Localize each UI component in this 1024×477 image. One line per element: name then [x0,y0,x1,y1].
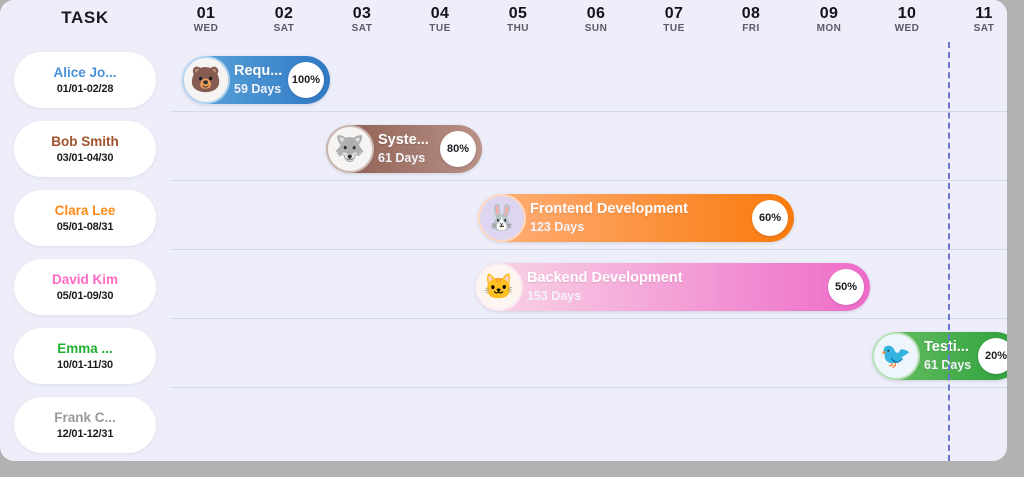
task-assignee-name: Emma ... [57,340,113,357]
today-marker-line [948,42,950,461]
row-separator [170,318,1007,319]
date-tick-day: 02 [254,5,314,22]
task-bar-duration: 153 Days [527,288,824,305]
date-tick-day: 10 [877,5,937,22]
date-tick-08: 08FRI [721,5,781,35]
row-separator [170,180,1007,181]
task-assignee-name: Frank C... [54,409,116,426]
task-bar-title: Requ... [234,62,284,81]
task-date-range: 01/01-02/28 [57,82,114,97]
assignee-avatar-icon: 🐰 [480,196,524,240]
date-tick-weekday: WED [877,22,937,35]
task-bar[interactable]: 🐺Syste...61 Days80% [326,125,482,173]
gantt-chart-panel: TASK 01WED02SAT03SAT04TUE05THU06SUN07TUE… [0,0,1007,461]
date-tick-weekday: SAT [254,22,314,35]
task-date-range: 10/01-11/30 [57,358,113,373]
task-bar-title: Syste... [378,131,436,150]
date-tick-04: 04TUE [410,5,470,35]
task-progress-badge: 80% [440,131,476,167]
date-tick-weekday: THU [488,22,548,35]
timeline-header: TASK 01WED02SAT03SAT04TUE05THU06SUN07TUE… [0,0,1007,42]
task-chip[interactable]: Frank C...12/01-12/31 [14,397,156,453]
task-column-header: TASK [0,8,170,28]
date-tick-weekday: SAT [954,22,1007,35]
task-progress-badge: 100% [288,62,324,98]
date-tick-day: 08 [721,5,781,22]
task-bar-title: Backend Development [527,269,824,288]
task-chip[interactable]: Bob Smith03/01-04/30 [14,121,156,177]
date-tick-01: 01WED [176,5,236,35]
date-tick-weekday: MON [799,22,859,35]
task-bar[interactable]: 🐰Frontend Development123 Days60% [478,194,794,242]
task-chip[interactable]: David Kim05/01-09/30 [14,259,156,315]
date-tick-weekday: SAT [332,22,392,35]
date-tick-day: 06 [566,5,626,22]
assignee-avatar-icon: 🐱 [477,265,521,309]
task-date-range: 12/01-12/31 [57,427,114,442]
date-tick-day: 07 [644,5,704,22]
task-bar-duration: 59 Days [234,81,284,98]
row-separator [170,249,1007,250]
task-bar[interactable]: 🐦Testi...61 Days20% [872,332,1007,380]
date-tick-weekday: TUE [410,22,470,35]
task-progress-badge: 20% [978,338,1007,374]
assignee-avatar-icon: 🐦 [874,334,918,378]
date-tick-day: 01 [176,5,236,22]
date-tick-02: 02SAT [254,5,314,35]
task-bar-text: Syste...61 Days [378,131,436,167]
date-tick-09: 09MON [799,5,859,35]
date-tick-11: 11SAT [954,5,1007,35]
date-tick-day: 05 [488,5,548,22]
task-date-range: 05/01-08/31 [57,220,114,235]
task-chip[interactable]: Alice Jo...01/01-02/28 [14,52,156,108]
task-bar-duration: 61 Days [378,150,436,167]
date-tick-day: 11 [954,5,1007,22]
task-label-column[interactable]: Alice Jo...01/01-02/28Bob Smith03/01-04/… [0,42,170,461]
row-separator [170,387,1007,388]
task-assignee-name: David Kim [52,271,118,288]
date-tick-day: 09 [799,5,859,22]
task-bar-text: Requ...59 Days [234,62,284,98]
date-tick-05: 05THU [488,5,548,35]
date-tick-weekday: FRI [721,22,781,35]
date-tick-day: 04 [410,5,470,22]
task-assignee-name: Bob Smith [51,133,119,150]
task-assignee-name: Clara Lee [55,202,116,219]
task-date-range: 03/01-04/30 [57,151,114,166]
task-bar-duration: 123 Days [530,219,748,236]
row-separator [170,111,1007,112]
date-tick-weekday: TUE [644,22,704,35]
task-bar[interactable]: 🐻Requ...59 Days100% [182,56,330,104]
date-tick-10: 10WED [877,5,937,35]
task-chip[interactable]: Emma ...10/01-11/30 [14,328,156,384]
task-chip[interactable]: Clara Lee05/01-08/31 [14,190,156,246]
task-bar-text: Backend Development153 Days [527,269,824,305]
task-progress-badge: 60% [752,200,788,236]
task-bar[interactable]: 🐱Backend Development153 Days50% [475,263,870,311]
task-bar-text: Frontend Development123 Days [530,200,748,236]
date-tick-day: 03 [332,5,392,22]
task-bar-title: Frontend Development [530,200,748,219]
date-tick-07: 07TUE [644,5,704,35]
date-tick-06: 06SUN [566,5,626,35]
date-tick-weekday: SUN [566,22,626,35]
date-tick-weekday: WED [176,22,236,35]
assignee-avatar-icon: 🐺 [328,127,372,171]
assignee-avatar-icon: 🐻 [184,58,228,102]
date-tick-03: 03SAT [332,5,392,35]
task-assignee-name: Alice Jo... [53,64,116,81]
task-progress-badge: 50% [828,269,864,305]
task-date-range: 05/01-09/30 [57,289,114,304]
